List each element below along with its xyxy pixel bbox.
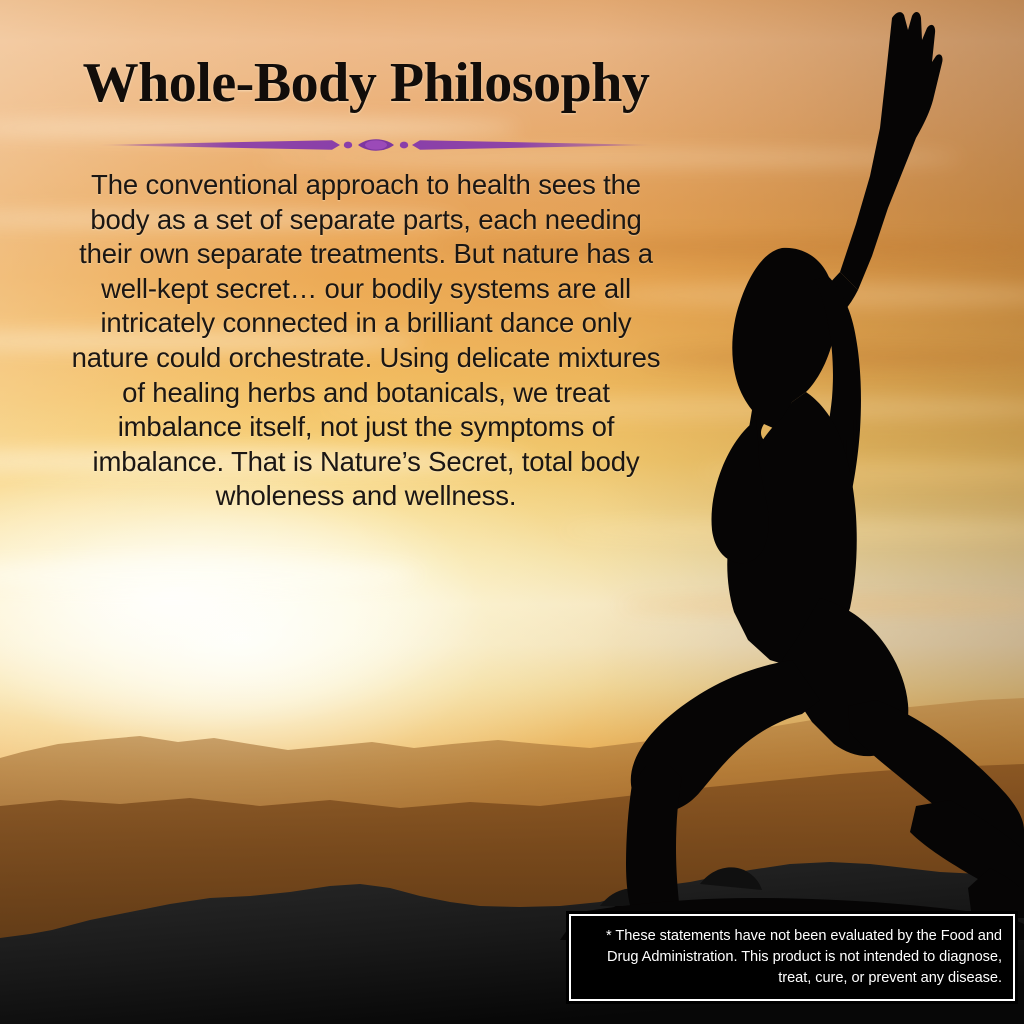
disclaimer-border: * These statements have not been evaluat… [569, 914, 1015, 1001]
disclaimer-box: * These statements have not been evaluat… [566, 911, 1018, 1004]
page-title: Whole-Body Philosophy [46, 52, 686, 114]
ornamental-divider-icon [96, 134, 656, 156]
poster-canvas: Whole-Body Philosophy [0, 0, 1024, 1024]
disclaimer-text: * These statements have not been evaluat… [571, 926, 1013, 989]
body-paragraph: The conventional approach to health sees… [62, 168, 670, 514]
